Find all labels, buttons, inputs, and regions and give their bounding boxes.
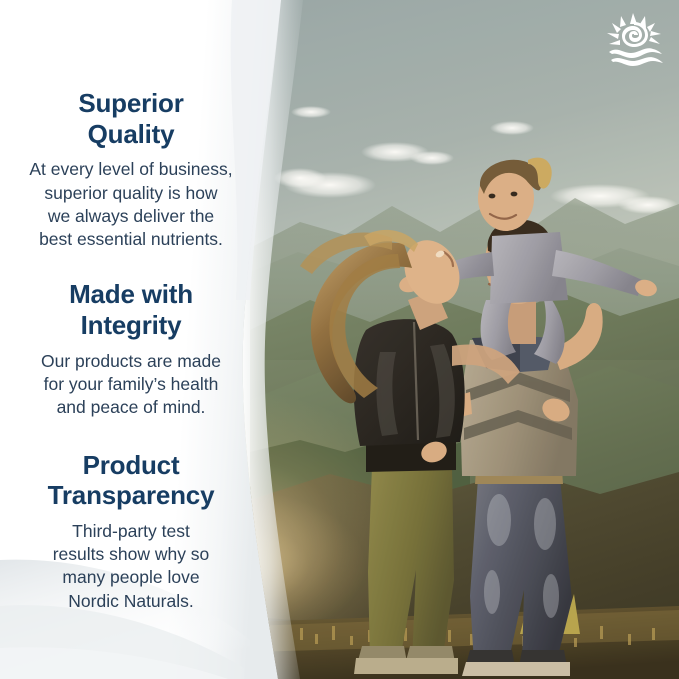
heading-line-2: Integrity — [81, 310, 182, 340]
body-line-3: we always deliver the — [48, 206, 214, 226]
body-line-2: for your family’s health — [44, 374, 219, 394]
heading-line-1: Product — [83, 450, 180, 480]
heading-line-1: Made with — [69, 279, 193, 309]
body-line-3: and peace of mind. — [57, 397, 206, 417]
body-line-1: Our products are made — [41, 351, 221, 371]
heading-made-with-integrity: Made with Integrity — [24, 279, 239, 340]
body-line-2: superior quality is how — [44, 183, 217, 203]
body-line-3: many people love — [62, 567, 199, 587]
value-prop-list: Superior Quality At every level of busin… — [0, 0, 262, 679]
value-prop-product-transparency: Product Transparency Third-party test re… — [0, 450, 262, 613]
value-prop-made-with-integrity: Made with Integrity Our products are mad… — [0, 279, 262, 419]
body-product-transparency: Third-party test results show why so man… — [24, 520, 239, 613]
promo-banner: Superior Quality At every level of busin… — [0, 0, 679, 679]
heading-product-transparency: Product Transparency — [24, 450, 239, 511]
sun-wave-icon — [603, 11, 665, 67]
heading-line-2: Quality — [88, 119, 175, 149]
body-line-1: At every level of business, — [29, 159, 232, 179]
heading-line-2: Transparency — [48, 480, 215, 510]
body-line-1: Third-party test — [72, 521, 190, 541]
body-line-4: best essential nutrients. — [39, 229, 223, 249]
heading-line-1: Superior — [78, 88, 183, 118]
body-superior-quality: At every level of business, superior qua… — [17, 158, 245, 251]
body-line-4: Nordic Naturals. — [68, 591, 193, 611]
heading-superior-quality: Superior Quality — [24, 88, 239, 149]
value-prop-superior-quality: Superior Quality At every level of busin… — [0, 88, 262, 251]
body-line-2: results show why so — [53, 544, 210, 564]
body-made-with-integrity: Our products are made for your family’s … — [17, 350, 245, 420]
